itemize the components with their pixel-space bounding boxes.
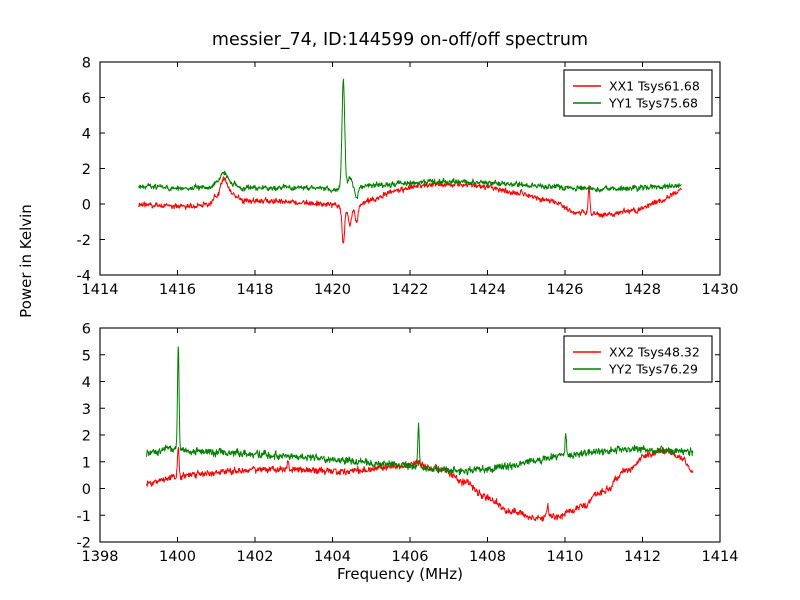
page-title: messier_74, ID:144599 on-off/off spectru…	[0, 30, 800, 50]
y-tick-label: -4	[77, 269, 91, 285]
x-tick-label: 1418	[237, 282, 274, 298]
x-tick-label: 1428	[624, 282, 661, 298]
x-tick-label: 1424	[469, 282, 506, 298]
x-tick-label: 1410	[547, 549, 584, 565]
x-tick-label: 1430	[702, 282, 739, 298]
y-tick-label: 2	[82, 429, 91, 445]
legend-label: XX1 Tsys61.68	[609, 79, 700, 94]
x-tick-label: 1422	[392, 282, 429, 298]
data-trace-xx1	[139, 177, 682, 243]
x-tick-label: 1406	[392, 549, 429, 565]
x-tick-label: 1402	[237, 549, 274, 565]
x-tick-label: 1416	[159, 282, 196, 298]
y-tick-label: 3	[82, 402, 91, 418]
y-tick-label: 2	[82, 162, 91, 178]
x-tick-label: 1408	[469, 549, 506, 565]
y-tick-label: 8	[82, 56, 91, 72]
y-axis-label: Power in Kelvin	[17, 171, 35, 351]
legend-label: YY1 Tsys75.68	[608, 96, 698, 111]
y-tick-label: 4	[82, 375, 91, 391]
legend-label: YY2 Tsys76.29	[608, 362, 698, 377]
y-tick-label: 5	[82, 348, 91, 364]
y-tick-label: 0	[82, 482, 91, 498]
y-tick-label: 6	[82, 322, 91, 338]
x-tick-label: 1414	[702, 549, 739, 565]
x-tick-label: 1412	[624, 549, 661, 565]
x-tick-label: 1400	[159, 549, 196, 565]
x-tick-label: 1426	[547, 282, 584, 298]
y-tick-label: 6	[82, 91, 91, 107]
x-tick-label: 1420	[314, 282, 351, 298]
y-tick-label: -1	[77, 509, 91, 525]
plot-canvas: 141414161418142014221424142614281430-4-2…	[0, 0, 800, 600]
x-axis-label: Frequency (MHz)	[0, 565, 800, 583]
y-tick-label: 0	[82, 198, 91, 214]
matplotlib-figure: messier_74, ID:144599 on-off/off spectru…	[0, 0, 800, 600]
y-tick-label: -2	[77, 233, 91, 249]
y-tick-label: 4	[82, 127, 91, 143]
x-tick-label: 1404	[314, 549, 351, 565]
y-tick-label: -2	[77, 536, 91, 552]
legend-label: XX2 Tsys48.32	[609, 345, 700, 360]
y-tick-label: 1	[82, 455, 91, 471]
